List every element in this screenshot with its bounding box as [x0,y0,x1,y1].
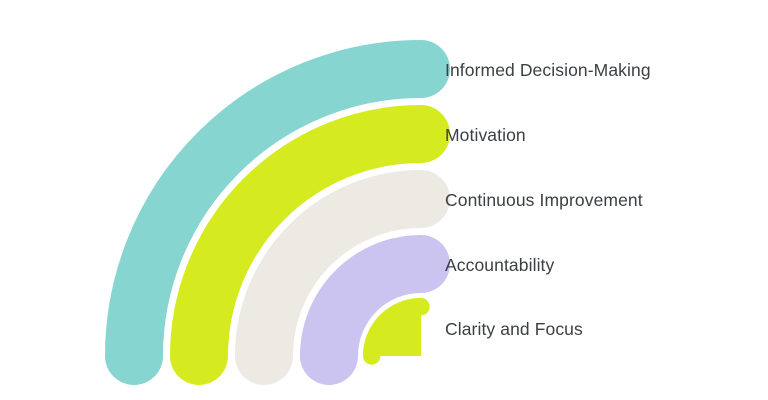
legend-item-label: Motivation [445,122,526,148]
legend-item-label: Informed Decision-Making [445,57,651,83]
legend-item-label: Accountability [445,252,554,278]
legend-item-label: Continuous Improvement [445,187,643,213]
legend-item-accountability[interactable]: Accountability [445,252,554,278]
legend-item-continuous-improvement[interactable]: Continuous Improvement [445,187,643,213]
diagram-canvas: Informed Decision-Making Motivation Cont… [0,0,768,400]
legend-item-motivation[interactable]: Motivation [445,122,526,148]
legend: Informed Decision-Making Motivation Cont… [445,0,755,400]
legend-item-label: Clarity and Focus [445,316,583,342]
legend-item-clarity-and-focus[interactable]: Clarity and Focus [445,316,583,342]
legend-item-informed-decision-making[interactable]: Informed Decision-Making [445,57,651,83]
